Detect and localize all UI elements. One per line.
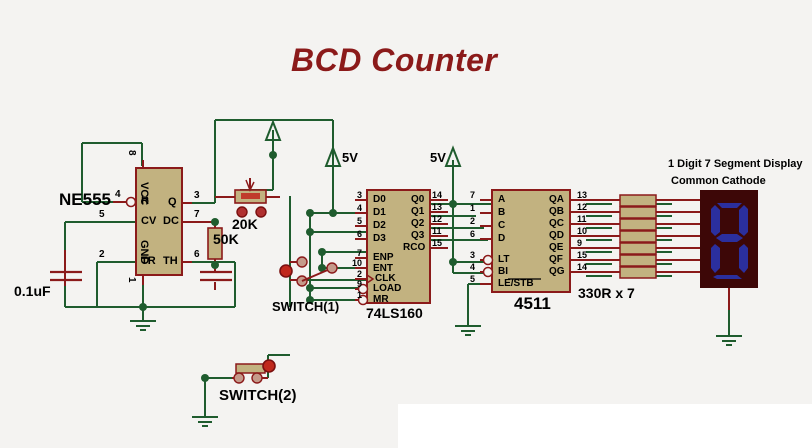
ic-4511-pin-label-C: C: [498, 220, 505, 231]
ic-74ls160-pin-label-Q3: Q3: [411, 230, 424, 241]
ic-74ls160-pin-label-LOAD: LOAD: [373, 283, 401, 294]
ic-4511-pin-label-A: A: [498, 194, 505, 205]
display-title-line2: Common Cathode: [671, 175, 766, 187]
ic-74ls160-pin-number-12: 12: [432, 214, 442, 224]
ic-74ls160-pin-label-MR: MR: [373, 294, 389, 305]
ic-4511-pin-label-QD: QD: [549, 230, 564, 241]
resistor-bank-330r-label: 330R x 7: [578, 285, 635, 301]
ic-4511-pin-number-12: 12: [577, 202, 587, 212]
ne555-pin-label-VCC: VCC: [138, 182, 150, 205]
ic-4511-pin-number-11: 11: [577, 214, 587, 224]
ic-74ls160-pin-label-Q1: Q1: [411, 206, 424, 217]
ne555-pin-label-DC: DC: [163, 215, 179, 227]
footer-blank-area: [398, 404, 812, 448]
ic-74ls160-ref-label: 74LS160: [366, 305, 423, 321]
ic-74ls160-pin-label-RCO: RCO: [403, 242, 425, 253]
ic-74ls160-pin-number-10: 10: [352, 258, 362, 268]
ne555-pin-number-7: 7: [194, 209, 200, 220]
ne555-ref-label: NE555: [59, 190, 111, 210]
ic-74ls160-pin-label-ENP: ENP: [373, 252, 394, 263]
ic-4511-pin-number-13: 13: [577, 190, 587, 200]
ic-4511-pin-number-3: 3: [470, 250, 475, 260]
ic-4511-pin-label-QE: QE: [549, 242, 563, 253]
switch-2[interactable]: [234, 360, 275, 383]
ne555-pin-number-4: 4: [115, 189, 121, 200]
ic-74ls160-pin-number-3: 3: [357, 190, 362, 200]
ic-74ls160-pin-number-13: 13: [432, 202, 442, 212]
ic-4511-pin-label-QA: QA: [549, 194, 564, 205]
ne555-pin-number-2: 2: [99, 249, 105, 260]
ne555-pin-number-1: 1: [126, 277, 137, 283]
ic-4511-pin-label-D: D: [498, 233, 505, 244]
ne555-pin-label-Q: Q: [168, 196, 177, 208]
ic-4511-pin-label-QG: QG: [549, 266, 565, 277]
power-label-5v-decoder: 5V: [430, 150, 446, 165]
ic-4511-pin-number-10: 10: [577, 226, 587, 236]
switch-2-label: SWITCH(2): [219, 387, 297, 404]
ic-4511-pin-label-BI: BI: [498, 266, 508, 277]
ic-74ls160-pin-label-D3: D3: [373, 233, 386, 244]
ic-4511-pin-number-2: 2: [470, 216, 475, 226]
seven-segment-display: [700, 190, 758, 288]
capacitor-timing: [200, 272, 232, 280]
ic-74ls160-pin-label-D1: D1: [373, 207, 386, 218]
capacitor-0p1uf-label: 0.1uF: [14, 283, 51, 299]
ic-74ls160-pin-number-9: 9: [357, 279, 362, 289]
ic-74ls160-pin-label-D0: D0: [373, 194, 386, 205]
ic-4511-pin-label-QB: QB: [549, 206, 564, 217]
ic-4511-pin-number-14: 14: [577, 262, 587, 272]
ic-4511-pin-label-B: B: [498, 207, 505, 218]
ne555-pin-number-3: 3: [194, 190, 200, 201]
ic-4511-pin-label-QF: QF: [549, 254, 563, 265]
page-title: BCD Counter: [291, 42, 497, 79]
ic-74ls160-pin-label-Q0: Q0: [411, 194, 424, 205]
ne555-pin-number-5: 5: [99, 209, 105, 220]
resistor-bank-330r: [620, 195, 656, 278]
ic-74ls160-pin-number-11: 11: [432, 226, 442, 236]
display-title-line1: 1 Digit 7 Segment Display: [668, 158, 802, 170]
schematic-canvas: BCD Counter 5V 5V NE555 R CV TR VCC GND …: [0, 0, 812, 448]
resistor-50k-label: 50K: [213, 231, 239, 247]
ic-4511-pin-number-7: 7: [470, 190, 475, 200]
ic-74ls160-pin-number-6: 6: [357, 229, 362, 239]
ic-74ls160-pin-number-1: 1: [357, 290, 362, 300]
ic-4511-pin-number-15: 15: [577, 250, 587, 260]
ic-4511-pin-number-6: 6: [470, 229, 475, 239]
ic-4511-pin-label-LT: LT: [498, 254, 509, 265]
ic-4511-pin-label-QC: QC: [549, 218, 564, 229]
ne555-pin-number-8: 8: [126, 150, 137, 156]
ic-74ls160-pin-number-4: 4: [357, 203, 362, 213]
ic-74ls160-pin-number-5: 5: [357, 216, 362, 226]
ic-4511-ref-label: 4511: [514, 294, 551, 314]
power-label-5v-counter: 5V: [342, 150, 358, 165]
ic-4511-pin-number-9: 9: [577, 238, 582, 248]
ne555-pin-label-TH: TH: [163, 255, 178, 267]
ic-74ls160-pin-label-D2: D2: [373, 220, 386, 231]
ic-4511-pin-number-4: 4: [470, 262, 475, 272]
ic-4511-pin-number-5: 5: [470, 274, 475, 284]
ic-74ls160-pin-number-14: 14: [432, 190, 442, 200]
ic-4511-pin-label-LE-STB: LE/STB: [498, 278, 534, 289]
ic-74ls160-pin-number-7: 7: [357, 248, 362, 258]
ic-74ls160-pin-number-2: 2: [357, 269, 362, 279]
ic-74ls160-pin-number-15: 15: [432, 238, 442, 248]
ne555-pin-number-6: 6: [194, 249, 200, 260]
ne555-pin-label-CV: CV: [141, 215, 156, 227]
ne555-pin-label-GND: GND: [138, 240, 150, 264]
switch-1[interactable]: [280, 257, 337, 286]
ic-4511-pin-number-1: 1: [470, 203, 475, 213]
potentiometer-20k-label: 20K: [232, 216, 258, 232]
ic-74ls160-pin-label-Q2: Q2: [411, 218, 424, 229]
switch-1-label: SWITCH(1): [272, 299, 339, 314]
